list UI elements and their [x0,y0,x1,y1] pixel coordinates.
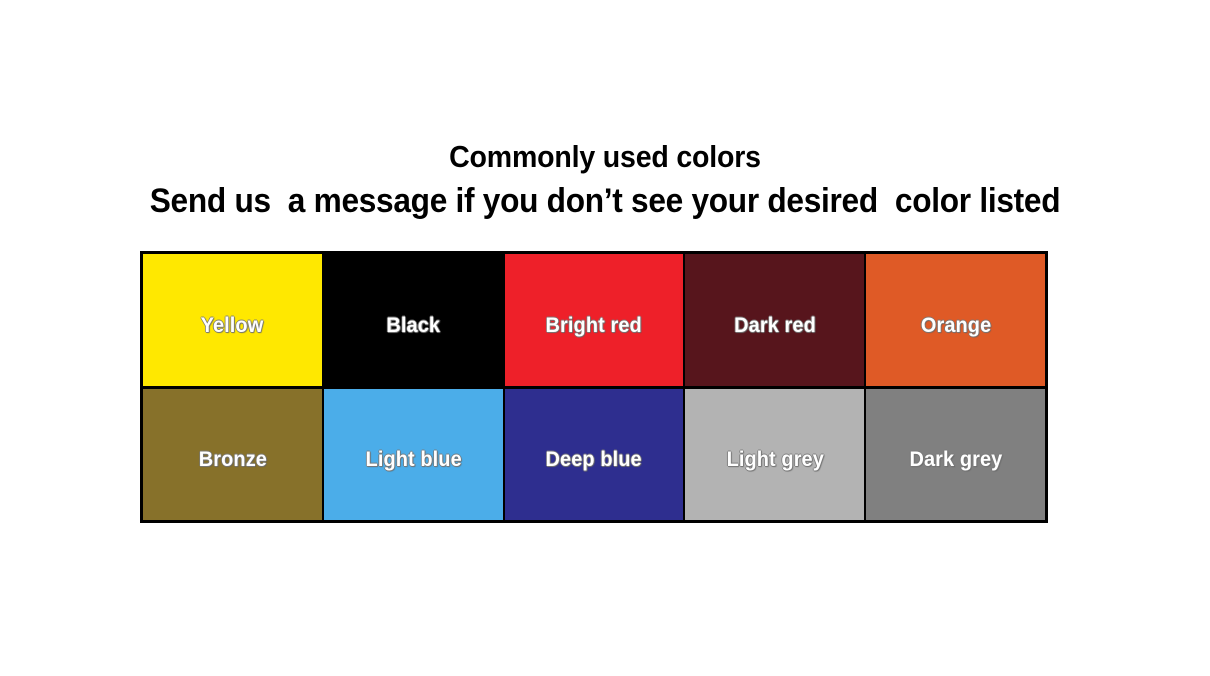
page-title: Commonly used colors [48,136,1161,178]
swatch-cell-dark-grey[interactable]: Dark grey [866,389,1045,521]
swatch-label: Yellow [201,314,264,338]
swatch-row: Bronze Light blue Deep blue Light grey D… [143,389,1045,521]
page-subtitle: Send us a message if you don’t see your … [42,178,1167,224]
swatch-row: Yellow Black Bright red Dark red Orange [143,254,1045,389]
color-swatch-grid: Yellow Black Bright red Dark red Orange … [140,251,1048,523]
swatch-label: Orange [920,314,990,338]
swatch-cell-deep-blue[interactable]: Deep blue [505,389,686,521]
swatch-cell-bronze[interactable]: Bronze [143,389,324,521]
swatch-cell-black[interactable]: Black [324,254,505,386]
swatch-label: Dark grey [909,448,1002,472]
swatch-label: Light grey [726,448,823,472]
swatch-cell-dark-red[interactable]: Dark red [685,254,866,386]
swatch-label: Deep blue [546,448,642,472]
swatch-label: Light blue [365,448,461,472]
swatch-label: Black [386,314,440,338]
swatch-label: Bronze [198,448,266,472]
heading-block: Commonly used colors Send us a message i… [0,136,1210,224]
swatch-cell-orange[interactable]: Orange [866,254,1045,386]
swatch-cell-yellow[interactable]: Yellow [143,254,324,386]
swatch-cell-bright-red[interactable]: Bright red [505,254,686,386]
swatch-label: Dark red [734,314,816,338]
swatch-cell-light-blue[interactable]: Light blue [324,389,505,521]
swatch-label: Bright red [546,314,642,338]
swatch-cell-light-grey[interactable]: Light grey [685,389,866,521]
